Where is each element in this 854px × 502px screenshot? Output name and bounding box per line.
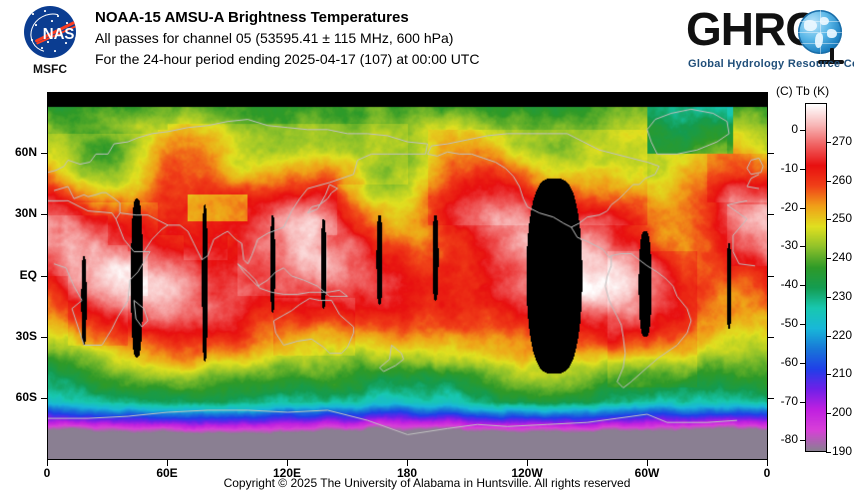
- colorbar-label-celsius: -70: [758, 394, 798, 408]
- colorbar-label-kelvin: 200: [832, 405, 854, 419]
- colorbar[interactable]: [805, 103, 827, 452]
- subtitle-channel: All passes for channel 05 (53595.41 ± 11…: [95, 28, 479, 49]
- globe-icon: [798, 10, 842, 54]
- colorbar-label-kelvin: 220: [832, 328, 854, 342]
- y-tick-right: [768, 337, 774, 338]
- y-tick: [41, 214, 47, 215]
- nasa-logo: NASA MSFC: [10, 6, 88, 82]
- y-axis-label: 60N: [0, 145, 37, 159]
- y-tick-right: [768, 153, 774, 154]
- brightness-temperature-map[interactable]: [47, 92, 768, 460]
- colorbar-label-celsius: -20: [758, 200, 798, 214]
- colorbar-tick-kelvin: [826, 219, 831, 220]
- y-axis-label: EQ: [0, 268, 37, 282]
- y-tick: [41, 153, 47, 154]
- colorbar-tick-kelvin: [826, 181, 831, 182]
- colorbar-label-kelvin: 260: [832, 173, 854, 187]
- msfc-label: MSFC: [10, 62, 90, 76]
- colorbar-tick-celsius: [800, 363, 805, 364]
- colorbar-tick-celsius: [800, 246, 805, 247]
- y-axis-label: 30S: [0, 329, 37, 343]
- copyright-notice: Copyright © 2025 The University of Alaba…: [0, 476, 854, 490]
- colorbar-label-celsius: 0: [758, 122, 798, 136]
- page-title: NOAA-15 AMSU-A Brightness Temperatures: [95, 8, 479, 28]
- colorbar-tick-kelvin: [826, 374, 831, 375]
- colorbar-tick-kelvin: [826, 336, 831, 337]
- colorbar-label-celsius: -30: [758, 238, 798, 252]
- colorbar-label-kelvin: 230: [832, 289, 854, 303]
- colorbar-tick-celsius: [800, 440, 805, 441]
- colorbar-label-kelvin: 190: [832, 444, 854, 458]
- colorbar-label-kelvin: 240: [832, 250, 854, 264]
- colorbar-tick-celsius: [800, 208, 805, 209]
- colorbar-label-celsius: -50: [758, 316, 798, 330]
- y-axis-label: 60S: [0, 390, 37, 404]
- colorbar-tick-celsius: [800, 285, 805, 286]
- colorbar-tick-kelvin: [826, 452, 831, 453]
- ghrc-logo: GHRC Global Hydrology Resource Center: [686, 4, 846, 76]
- map-canvas: [48, 93, 767, 459]
- colorbar-label-kelvin: 250: [832, 211, 854, 225]
- colorbar-header: (C) Tb (K): [776, 84, 829, 98]
- y-tick: [41, 337, 47, 338]
- y-tick: [41, 398, 47, 399]
- colorbar-tick-kelvin: [826, 413, 831, 414]
- colorbar-label-kelvin: 270: [832, 134, 854, 148]
- colorbar-label-kelvin: 210: [832, 366, 854, 380]
- colorbar-tick-kelvin: [826, 258, 831, 259]
- colorbar-tick-celsius: [800, 402, 805, 403]
- colorbar-tick-celsius: [800, 169, 805, 170]
- colorbar-gradient: [806, 104, 826, 451]
- colorbar-tick-kelvin: [826, 297, 831, 298]
- subtitle-period: For the 24-hour period ending 2025-04-17…: [95, 49, 479, 70]
- nasa-wordmark: NASA: [36, 26, 76, 44]
- ghrc-tagline: Global Hydrology Resource Center: [688, 58, 854, 70]
- colorbar-label-celsius: -40: [758, 277, 798, 291]
- colorbar-label-celsius: -10: [758, 161, 798, 175]
- nasa-meatball-icon: NASA: [24, 6, 76, 58]
- colorbar-tick-celsius: [800, 130, 805, 131]
- y-axis-label: 30N: [0, 206, 37, 220]
- colorbar-label-celsius: -80: [758, 432, 798, 446]
- colorbar-tick-kelvin: [826, 142, 831, 143]
- colorbar-label-celsius: -60: [758, 355, 798, 369]
- y-tick-right: [768, 214, 774, 215]
- y-tick: [41, 276, 47, 277]
- title-block: NOAA-15 AMSU-A Brightness Temperatures A…: [95, 8, 479, 70]
- colorbar-tick-celsius: [800, 324, 805, 325]
